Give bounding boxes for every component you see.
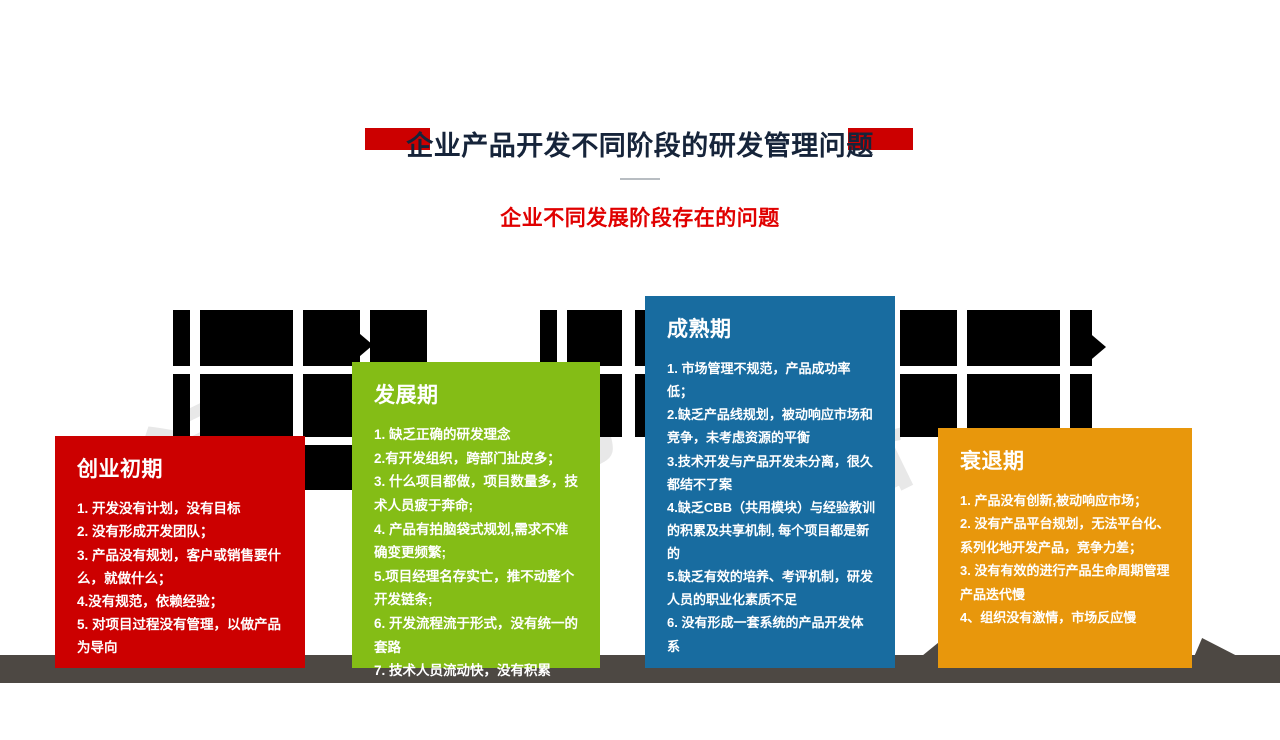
list-item: 6. 开发流程流于形式，没有统一的套路 bbox=[374, 612, 580, 659]
stage-card-title: 发展期 bbox=[374, 384, 580, 407]
list-item: 2. 没有形成开发团队； bbox=[77, 520, 285, 543]
stage-card-list: 1. 市场管理不规范，产品成功率低； 2.缺乏产品线规划，被动响应市场和竞争，未… bbox=[667, 357, 875, 658]
list-item: 1. 开发没有计划，没有目标 bbox=[77, 497, 285, 520]
slide-header: 企业产品开发不同阶段的研发管理问题 企业不同发展阶段存在的问题 bbox=[0, 0, 1280, 250]
list-item: 3. 产品没有规划，客户或销售要什么，就做什么； bbox=[77, 544, 285, 590]
slide-canvas: 远 方 咨 企业产品开发不同阶段的研发管理问题 企业不同发展阶段存在的问题 bbox=[0, 0, 1280, 740]
list-item: 1. 产品没有创新,被动响应市场； bbox=[960, 489, 1172, 512]
list-item: 4、组织没有激情，市场反应慢 bbox=[960, 606, 1172, 629]
stage-card-list: 1. 缺乏正确的研发理念 2.有开发组织，跨部门扯皮多； 3. 什么项目都做，项… bbox=[374, 423, 580, 683]
list-item: 5. 对项目过程没有管理，以做产品为导向 bbox=[77, 613, 285, 659]
list-item: 1. 市场管理不规范，产品成功率低； bbox=[667, 357, 875, 403]
list-item: 2.有开发组织，跨部门扯皮多； bbox=[374, 447, 580, 471]
list-item: 2. 没有产品平台规划，无法平台化、系列化地开发产品，竞争力差； bbox=[960, 512, 1172, 559]
list-item: 3.技术开发与产品开发未分离，很久都结不了案 bbox=[667, 450, 875, 496]
list-item: 4.缺乏CBB（共用模块）与经验教训的积累及共享机制, 每个项目都是新的 bbox=[667, 496, 875, 565]
stage-card-decline[interactable]: 衰退期 1. 产品没有创新,被动响应市场； 2. 没有产品平台规划，无法平台化、… bbox=[938, 428, 1192, 668]
list-item: 3. 什么项目都做，项目数量多，技术人员疲于奔命; bbox=[374, 470, 580, 517]
stage-card-title: 衰退期 bbox=[960, 450, 1172, 473]
list-item: 6. 没有形成一套系统的产品开发体系 bbox=[667, 611, 875, 657]
page-title: 企业产品开发不同阶段的研发管理问题 bbox=[0, 124, 1280, 163]
list-item: 4. 产品有拍脑袋式规划,需求不准确变更频繁; bbox=[374, 518, 580, 565]
list-item: 3. 没有有效的进行产品生命周期管理产品迭代慢 bbox=[960, 559, 1172, 606]
list-item: 5.项目经理名存实亡，推不动整个开发链条; bbox=[374, 565, 580, 612]
stage-card-title: 成熟期 bbox=[667, 318, 875, 341]
stage-card-title: 创业初期 bbox=[77, 458, 285, 481]
list-item: 7. 技术人员流动快，没有积累 bbox=[374, 659, 580, 683]
stage-card-growth[interactable]: 发展期 1. 缺乏正确的研发理念 2.有开发组织，跨部门扯皮多； 3. 什么项目… bbox=[352, 362, 600, 668]
list-item: 5.缺乏有效的培养、考评机制，研发人员的职业化素质不足 bbox=[667, 565, 875, 611]
stage-card-startup[interactable]: 创业初期 1. 开发没有计划，没有目标 2. 没有形成开发团队； 3. 产品没有… bbox=[55, 436, 305, 668]
stage-card-list: 1. 开发没有计划，没有目标 2. 没有形成开发团队； 3. 产品没有规划，客户… bbox=[77, 497, 285, 660]
list-item: 4.没有规范，依赖经验； bbox=[77, 590, 285, 613]
list-item: 2.缺乏产品线规划，被动响应市场和竞争，未考虑资源的平衡 bbox=[667, 403, 875, 449]
stage-card-list: 1. 产品没有创新,被动响应市场； 2. 没有产品平台规划，无法平台化、系列化地… bbox=[960, 489, 1172, 629]
list-item: 1. 缺乏正确的研发理念 bbox=[374, 423, 580, 447]
title-divider bbox=[620, 178, 660, 180]
page-subtitle: 企业不同发展阶段存在的问题 bbox=[0, 202, 1280, 232]
stage-card-mature[interactable]: 成熟期 1. 市场管理不规范，产品成功率低； 2.缺乏产品线规划，被动响应市场和… bbox=[645, 296, 895, 668]
